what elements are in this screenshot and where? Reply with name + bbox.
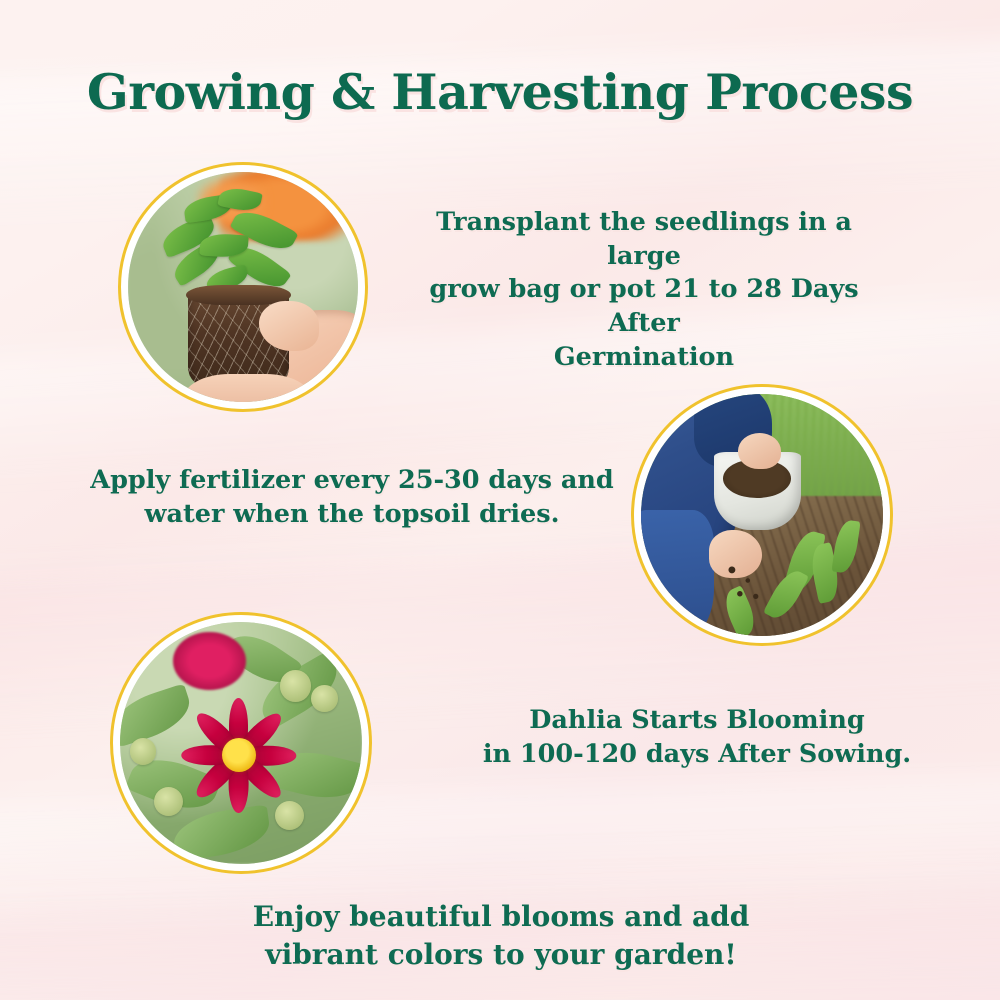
step-2-line-1: Apply fertilizer every 25-30 days and (82, 464, 622, 498)
footer-text: Enjoy beautiful blooms and add vibrant c… (218, 898, 784, 973)
step-2-line-2: water when the topsoil dries. (82, 498, 622, 532)
step-1-line-3: Germination (400, 341, 888, 375)
footer-line-2: vibrant colors to your garden! (218, 936, 784, 974)
step-1-gold-ring (118, 162, 368, 412)
step-1-line-2: grow bag or pot 21 to 28 Days After (400, 273, 888, 340)
step-2-fertilizer-photo: person-spreading-fertilizer-from-bucket (631, 384, 893, 646)
step-3-line-1: Dahlia Starts Blooming (452, 704, 942, 738)
step-2-text: Apply fertilizer every 25-30 days and wa… (82, 464, 622, 531)
footer-line-1: Enjoy beautiful blooms and add (218, 898, 784, 936)
step-1-line-1: Transplant the seedlings in a large (400, 206, 888, 273)
step-3-text: Dahlia Starts Blooming in 100-120 days A… (452, 704, 942, 771)
poster-canvas: Growing & Harvesting Process (0, 0, 1000, 1000)
step-3-gold-ring (110, 612, 372, 874)
step-3-bloom-photo: red-dahlia-flower-in-bloom (110, 612, 372, 874)
step-1-seedling-photo: hand-holding-seedling-with-root-plug (118, 162, 368, 412)
step-1-text: Transplant the seedlings in a large grow… (400, 206, 888, 374)
step-3-line-2: in 100-120 days After Sowing. (452, 738, 942, 772)
step-2-gold-ring (631, 384, 893, 646)
page-title: Growing & Harvesting Process (0, 63, 1000, 121)
